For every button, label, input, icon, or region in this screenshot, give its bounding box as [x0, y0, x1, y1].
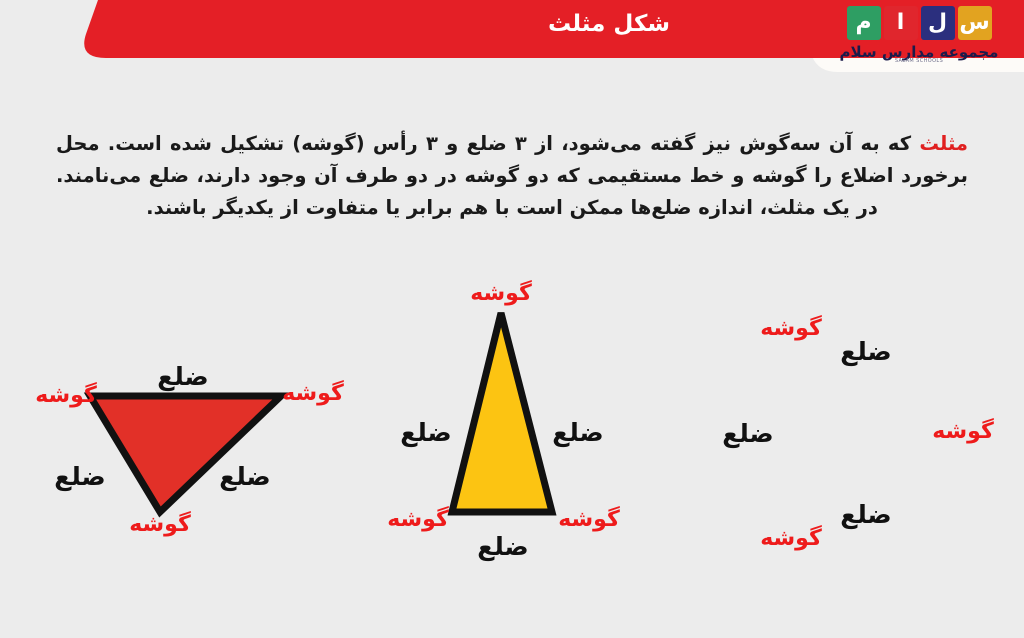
triangle-figures: ضلعضلعضلعگوشهگوشهگوشهضلعضلعضلعگوشهگوشهگو…	[0, 262, 1024, 582]
green-triangle-side-label-2: ضلع	[722, 419, 773, 449]
yellow-triangle[interactable]: ضلعضلعضلعگوشهگوشهگوشه	[387, 279, 620, 562]
logo-square-alef: ا	[884, 6, 918, 40]
green-triangle-side-label-1: ضلع	[840, 500, 891, 530]
red-triangle[interactable]: ضلعضلعضلعگوشهگوشهگوشه	[35, 362, 344, 537]
intro-paragraph: مثلث که به آن سه‌گوش نیز گفته می‌شود، از…	[56, 128, 968, 224]
green-triangle-corner-label-0: گوشه	[760, 314, 822, 341]
red-triangle-shape[interactable]	[90, 396, 281, 512]
yellow-triangle-side-label-2: ضلع	[477, 532, 528, 562]
logo-letter-squares: س ل ا م	[828, 6, 1010, 40]
green-triangle[interactable]: ضلعضلعضلعگوشهگوشهگوشه	[722, 314, 994, 592]
red-triangle-side-label-2: ضلع	[54, 462, 105, 492]
red-triangle-side-label-1: ضلع	[219, 462, 270, 492]
intro-keyword: مثلث	[919, 132, 968, 155]
logo-square-seen: س	[958, 6, 992, 40]
yellow-triangle-side-label-0: ضلع	[400, 418, 451, 448]
page-title: شکل مثلث	[444, 11, 774, 37]
yellow-triangle-side-label-1: ضلع	[552, 418, 603, 448]
brand-logo[interactable]: س ل ا م مجموعه مدارس سلام SALAM SCHOOLS	[828, 6, 1010, 68]
logo-square-lam: ل	[921, 6, 955, 40]
green-triangle-side-label-0: ضلع	[840, 337, 891, 367]
logo-square-meem: م	[847, 6, 881, 40]
red-triangle-corner-label-0: گوشه	[35, 381, 97, 408]
red-triangle-corner-label-1: گوشه	[282, 379, 344, 406]
red-triangle-corner-label-2: گوشه	[129, 510, 191, 537]
yellow-triangle-shape[interactable]	[452, 313, 552, 512]
yellow-triangle-corner-label-2: گوشه	[558, 505, 620, 532]
red-triangle-side-label-0: ضلع	[157, 362, 208, 392]
yellow-triangle-corner-label-0: گوشه	[470, 279, 532, 306]
green-triangle-corner-label-2: گوشه	[932, 417, 994, 444]
yellow-triangle-corner-label-1: گوشه	[387, 505, 449, 532]
green-triangle-corner-label-1: گوشه	[760, 524, 822, 551]
intro-body-text: که به آن سه‌گوش نیز گفته می‌شود، از ۳ ضل…	[56, 132, 968, 219]
figures-group: ضلعضلعضلعگوشهگوشهگوشهضلعضلعضلعگوشهگوشهگو…	[35, 279, 994, 592]
